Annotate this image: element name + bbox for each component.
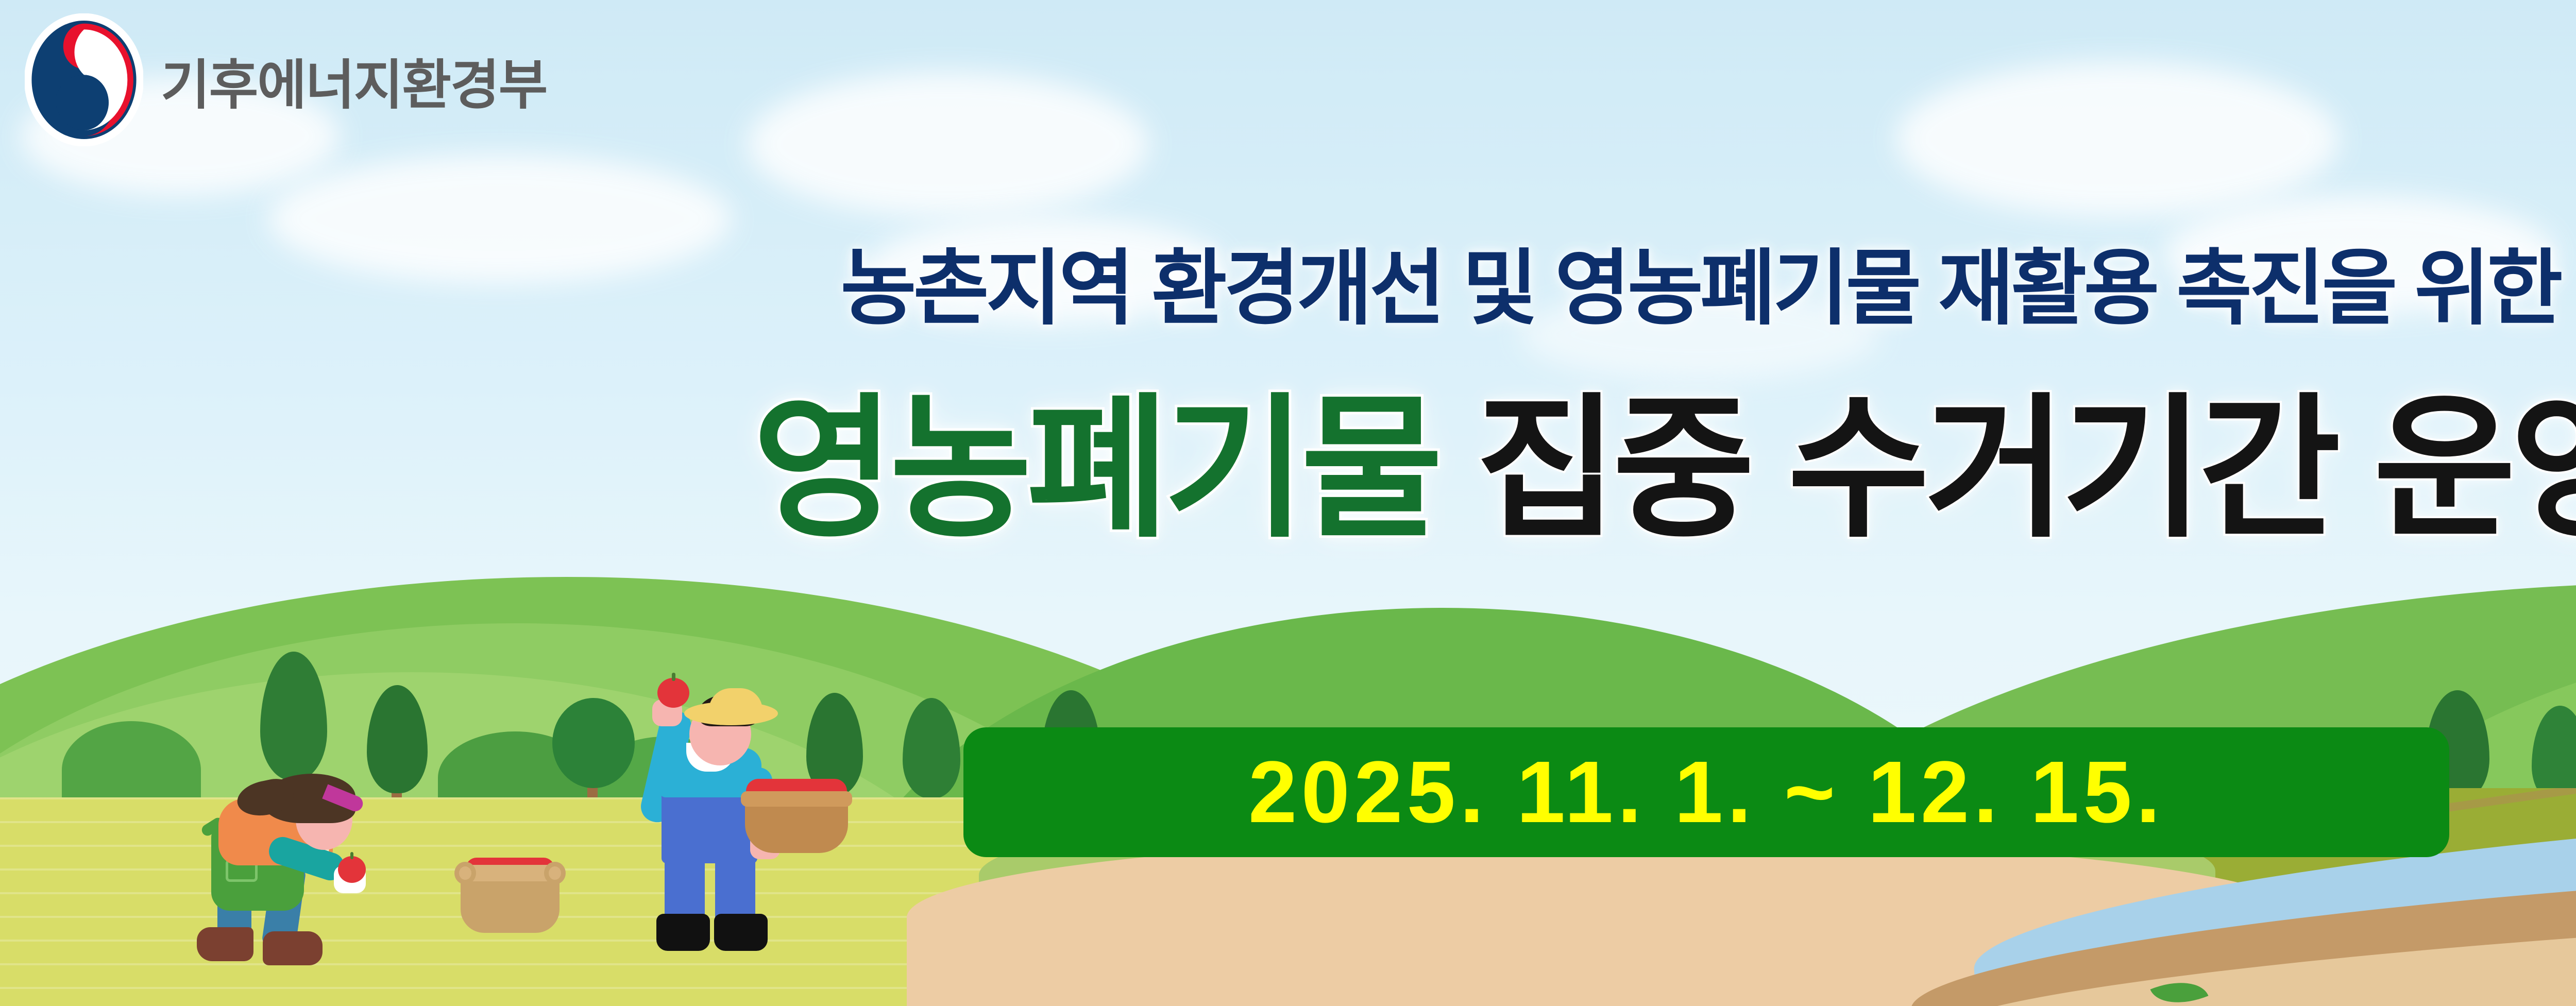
- date-badge-text: 2025. 11. 1. ~ 12. 15.: [1248, 742, 2164, 843]
- banner-subtitle: 농촌지역 환경개선 및 영농폐기물 재활용 촉진을 위한: [0, 221, 2576, 341]
- title-highlight: 영농폐기물: [753, 382, 1476, 555]
- farmer-man: [608, 659, 824, 979]
- basket-rim: [741, 791, 852, 807]
- cloud: [1896, 62, 2339, 216]
- ministry-logo[interactable]: 기후에너지환경부: [25, 13, 547, 146]
- taegeuk-emblem-icon: [25, 13, 143, 146]
- title-rest: 집중 수거기간 운영: [1476, 382, 2576, 555]
- boot: [656, 914, 710, 951]
- apple-icon: [338, 856, 366, 883]
- apple-icon: [657, 678, 689, 708]
- straw-hat-crown: [709, 688, 762, 714]
- banner-title: 영농폐기물 집중 수거기간 운영: [0, 391, 2576, 546]
- basket-handle: [544, 862, 566, 884]
- ministry-logo-text: 기후에너지환경부: [161, 41, 547, 119]
- apple-stem: [350, 852, 353, 859]
- date-badge: 2025. 11. 1. ~ 12. 15.: [963, 727, 2449, 857]
- farmer-woman: [185, 768, 402, 994]
- boot: [263, 931, 323, 965]
- basket-handle: [454, 862, 476, 884]
- promotional-banner: 기후에너지환경부 한국환경공단 농촌지역 환경개선 및 영농폐기물 재활용 촉진…: [0, 0, 2576, 1006]
- apple-basket-ground: [453, 852, 567, 945]
- boot: [197, 927, 253, 961]
- cloud: [747, 72, 1149, 216]
- apple-stem: [672, 673, 675, 681]
- apple-basket-carried: [738, 779, 856, 861]
- boot: [714, 914, 768, 951]
